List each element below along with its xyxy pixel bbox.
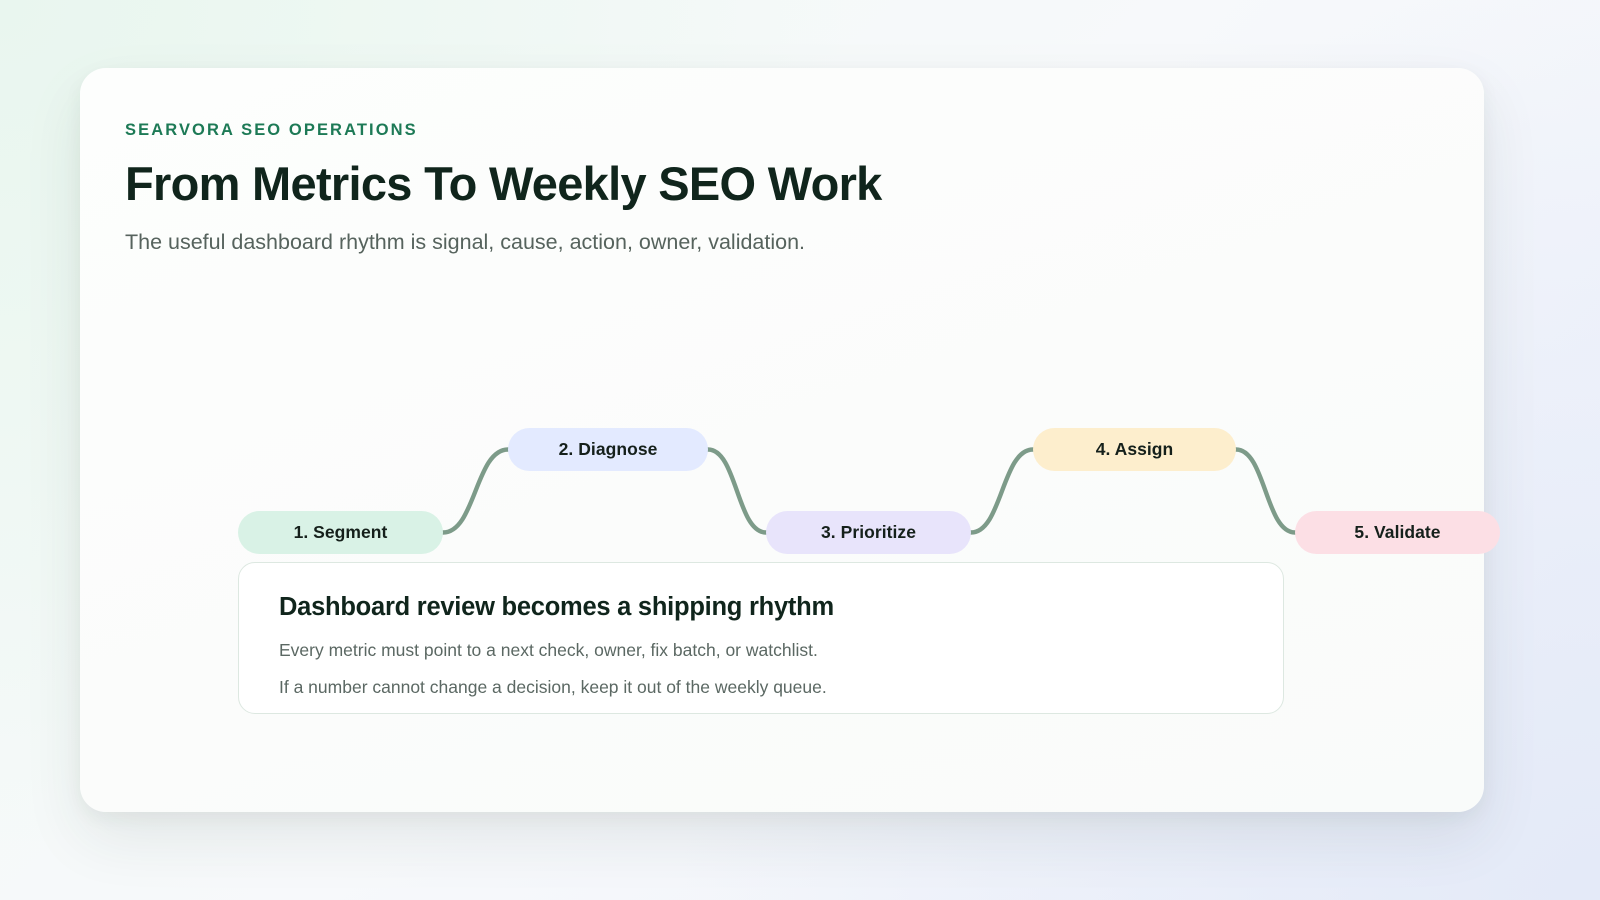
connector-4-to-5 [1236, 450, 1295, 533]
main-card: SEARVORA SEO OPERATIONS From Metrics To … [80, 68, 1484, 812]
callout-title: Dashboard review becomes a shipping rhyt… [279, 593, 1243, 622]
connector-2-to-3 [708, 450, 766, 533]
callout-line-2: If a number cannot change a decision, ke… [279, 676, 1243, 698]
page-subtitle: The useful dashboard rhythm is signal, c… [125, 229, 1385, 257]
connector-1-to-2 [443, 450, 508, 533]
flow-step-chip-5[interactable]: 5. Validate [1295, 511, 1500, 554]
callout-box: Dashboard review becomes a shipping rhyt… [238, 562, 1284, 714]
flow-step-chip-2[interactable]: 2. Diagnose [508, 428, 708, 471]
flow-connectors [125, 330, 1445, 520]
connector-3-to-4 [971, 450, 1033, 533]
flow-step-chip-4[interactable]: 4. Assign [1033, 428, 1236, 471]
process-flow-diagram: 1. Segment2. Diagnose3. Prioritize4. Ass… [125, 330, 1445, 520]
header: SEARVORA SEO OPERATIONS From Metrics To … [125, 122, 1385, 257]
eyebrow-label: SEARVORA SEO OPERATIONS [125, 122, 1385, 139]
callout-line-1: Every metric must point to a next check,… [279, 639, 1243, 661]
flow-step-chip-3[interactable]: 3. Prioritize [766, 511, 971, 554]
page-title: From Metrics To Weekly SEO Work [125, 159, 1385, 210]
flow-step-chip-1[interactable]: 1. Segment [238, 511, 443, 554]
